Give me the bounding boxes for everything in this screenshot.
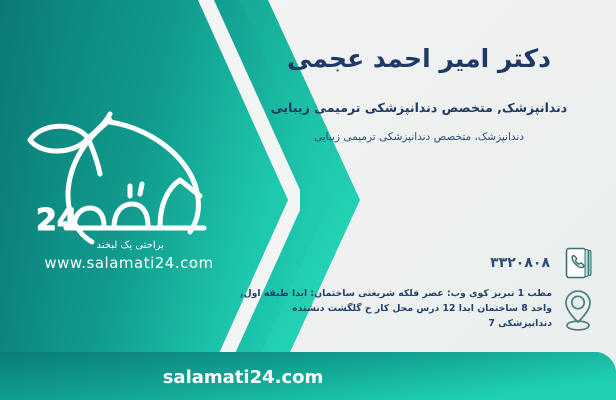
specialty-line-secondary: دندانپزشک، متخصص دندانپزشکی ترمیمی زیبای… xyxy=(244,131,594,143)
address-line-1: مطب 1 تبریز کوی وب: عصر فلکه شریعتی ساخت… xyxy=(224,286,552,301)
footer-website[interactable]: salamati24.com xyxy=(0,367,616,388)
address-line-3: دندانپزشکی 7 xyxy=(224,316,552,331)
address-row: مطب 1 تبریز کوی وب: عصر فلکه شریعتی ساخت… xyxy=(224,286,594,334)
doctor-name-title: دکتر امیر احمد عجمی xyxy=(244,44,594,73)
address-text: مطب 1 تبریز کوی وب: عصر فلکه شریعتی ساخت… xyxy=(224,286,552,331)
address-line-2: واحد 8 ساختمان ابدا 12 درس محل کار خ گلگ… xyxy=(224,301,552,316)
card-content: دکتر امیر احمد عجمی دندانپزشک, متخصص دند… xyxy=(0,0,616,400)
phone-book-icon xyxy=(564,246,594,280)
phone-number[interactable]: ۳۳۲۰۸۰۸ xyxy=(490,255,550,271)
business-card: 24 براحتی یک لبخند www.salamati24.com دک… xyxy=(0,0,616,400)
phone-row: ۳۳۲۰۸۰۸ xyxy=(234,246,594,280)
specialty-line-primary: دندانپزشک, متخصص دندانپزشکی ترمیمی زیبای… xyxy=(244,100,594,115)
footer-bar: salamati24.com xyxy=(0,344,616,400)
map-pin-icon xyxy=(562,288,594,334)
